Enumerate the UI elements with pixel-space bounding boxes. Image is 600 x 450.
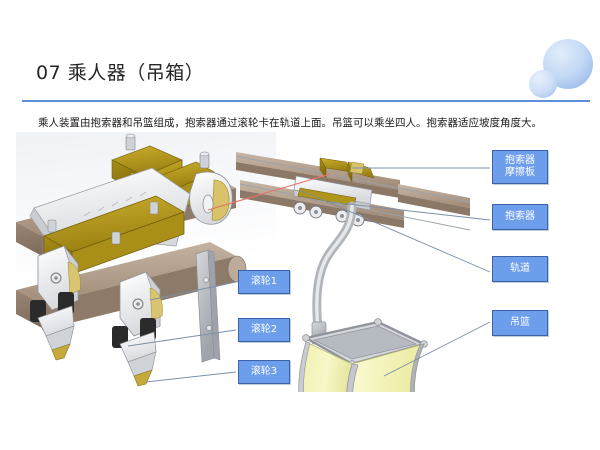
page-title: 07 乘人器（吊箱） bbox=[36, 58, 204, 85]
header-decoration bbox=[510, 34, 600, 106]
callout-roller-1[interactable]: 滚轮1 bbox=[238, 270, 290, 294]
callout-track-label: 轨道 bbox=[510, 263, 530, 275]
callout-roller-2[interactable]: 滚轮2 bbox=[238, 318, 290, 342]
leader-roller-3 bbox=[146, 372, 236, 382]
callout-friction-plate-line2: 摩擦板 bbox=[505, 167, 535, 179]
decorative-circle-small bbox=[529, 70, 557, 98]
callout-roller-3-label: 滚轮3 bbox=[251, 366, 277, 378]
hanger-arm bbox=[312, 206, 352, 344]
callout-track[interactable]: 轨道 bbox=[492, 256, 548, 282]
slide-subtitle: 乘人装置由抱索器和吊篮组成，抱索器通过滚轮卡在轨道上面。吊篮可以乘坐四人。抱索器… bbox=[38, 116, 578, 131]
callout-gripper-friction-plate[interactable]: 抱索器 摩擦板 bbox=[492, 150, 548, 184]
callout-friction-plate-line1: 抱索器 bbox=[505, 155, 535, 167]
title-divider bbox=[22, 100, 590, 102]
callout-roller-3[interactable]: 滚轮3 bbox=[238, 360, 290, 384]
callout-roller-2-label: 滚轮2 bbox=[251, 324, 277, 336]
callout-gripper[interactable]: 抱索器 bbox=[492, 204, 548, 230]
callout-gripper-label: 抱索器 bbox=[505, 211, 535, 223]
callout-cabin[interactable]: 吊篮 bbox=[492, 310, 548, 336]
slide-root: 07 乘人器（吊箱） 乘人装置由抱索器和吊篮组成，抱索器通过滚轮卡在轨道上面。吊… bbox=[0, 0, 600, 450]
decorative-circle-large bbox=[543, 39, 593, 89]
friction-plate bbox=[190, 172, 233, 224]
callout-roller-1-label: 滚轮1 bbox=[251, 276, 277, 288]
callout-cabin-label: 吊篮 bbox=[510, 317, 530, 329]
